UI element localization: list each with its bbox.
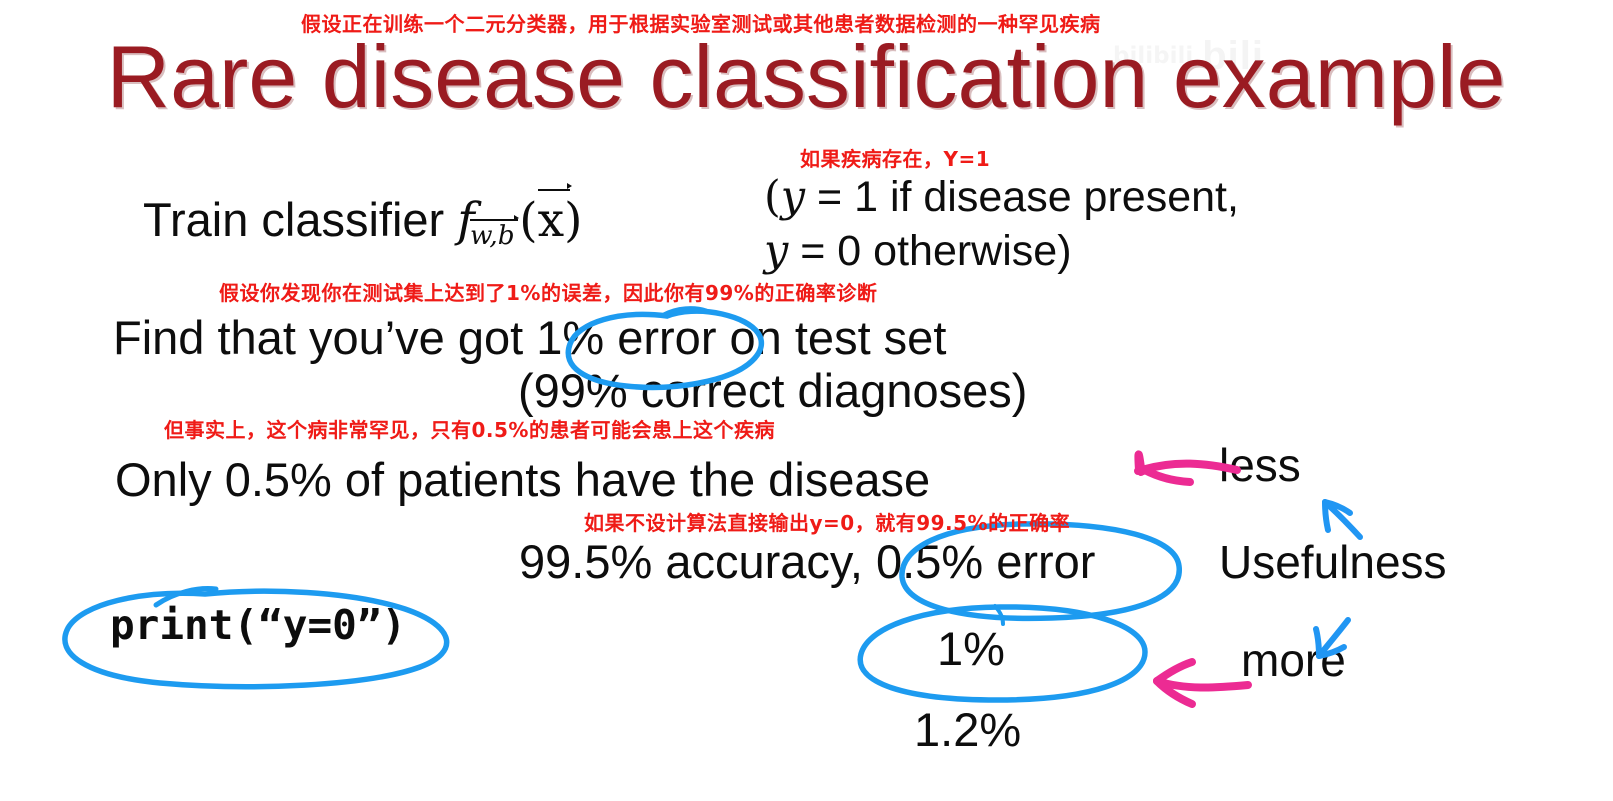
- accuracy-line: 99.5% accuracy, 0.5% error: [519, 534, 1095, 589]
- usefulness-more-label: more: [1241, 633, 1346, 687]
- print-statement-code: print(“y=0”): [110, 601, 406, 649]
- usefulness-axis-label: Usefulness: [1219, 535, 1447, 589]
- equation-text-1: = 1 if disease present,: [805, 173, 1239, 221]
- anno-error: 假设你发现你在测试集上达到了1%的误差，因此你有99%的正确率诊断: [219, 277, 877, 306]
- pink-arrow-more-icon: [1157, 662, 1248, 704]
- slide-canvas: bilibili bili 假设正在训练一个二元分类器，用于根据实验室测试或其他…: [0, 0, 1613, 801]
- usefulness-less-label: less: [1219, 438, 1301, 492]
- equation-text-2: = 0 otherwise): [788, 227, 1071, 275]
- blue-arrow-up-icon: [1325, 502, 1360, 537]
- equation-y-1: y: [781, 172, 805, 222]
- page-title: Rare disease classification example: [86, 29, 1526, 125]
- equation-y-2: y: [764, 226, 788, 276]
- train-classifier-text: Train classifier: [143, 193, 457, 246]
- equation-line-1: (y = 1 if disease present,: [764, 170, 1239, 224]
- prevalence-line: Only 0.5% of patients have the disease: [115, 452, 930, 507]
- paren-open: (: [764, 172, 781, 222]
- anno-y1: 如果疾病存在，Y=1: [800, 143, 990, 172]
- function-subscript: w,b: [470, 221, 515, 251]
- function-symbol: fw,b: [457, 193, 519, 248]
- function-arg-x: x: [538, 193, 565, 248]
- disease-label-equation: (y = 1 if disease present, y = 0 otherwi…: [764, 170, 1239, 278]
- anno-print: 如果不设计算法直接输出y=0，就有99.5%的正确率: [584, 507, 1070, 536]
- function-arg-open: (: [519, 193, 537, 248]
- anno-rare: 但事实上，这个病非常罕见，只有0.5%的患者可能会患上这个疾病: [164, 414, 775, 443]
- equation-line-2: y = 0 otherwise): [764, 224, 1239, 278]
- one-percent-value: 1%: [937, 621, 1005, 676]
- one-point-two-percent-value: 1.2%: [914, 702, 1021, 757]
- function-arg-close: ): [564, 193, 582, 248]
- correct-diagnoses-line: (99% correct diagnoses): [518, 363, 1027, 418]
- find-error-line: Find that you’ve got 1% error on test se…: [113, 310, 946, 365]
- anno-intro: 假设正在训练一个二元分类器，用于根据实验室测试或其他患者数据检测的一种罕见疾病: [301, 8, 1101, 37]
- train-classifier-line: Train classifier fw,b(x): [143, 192, 583, 248]
